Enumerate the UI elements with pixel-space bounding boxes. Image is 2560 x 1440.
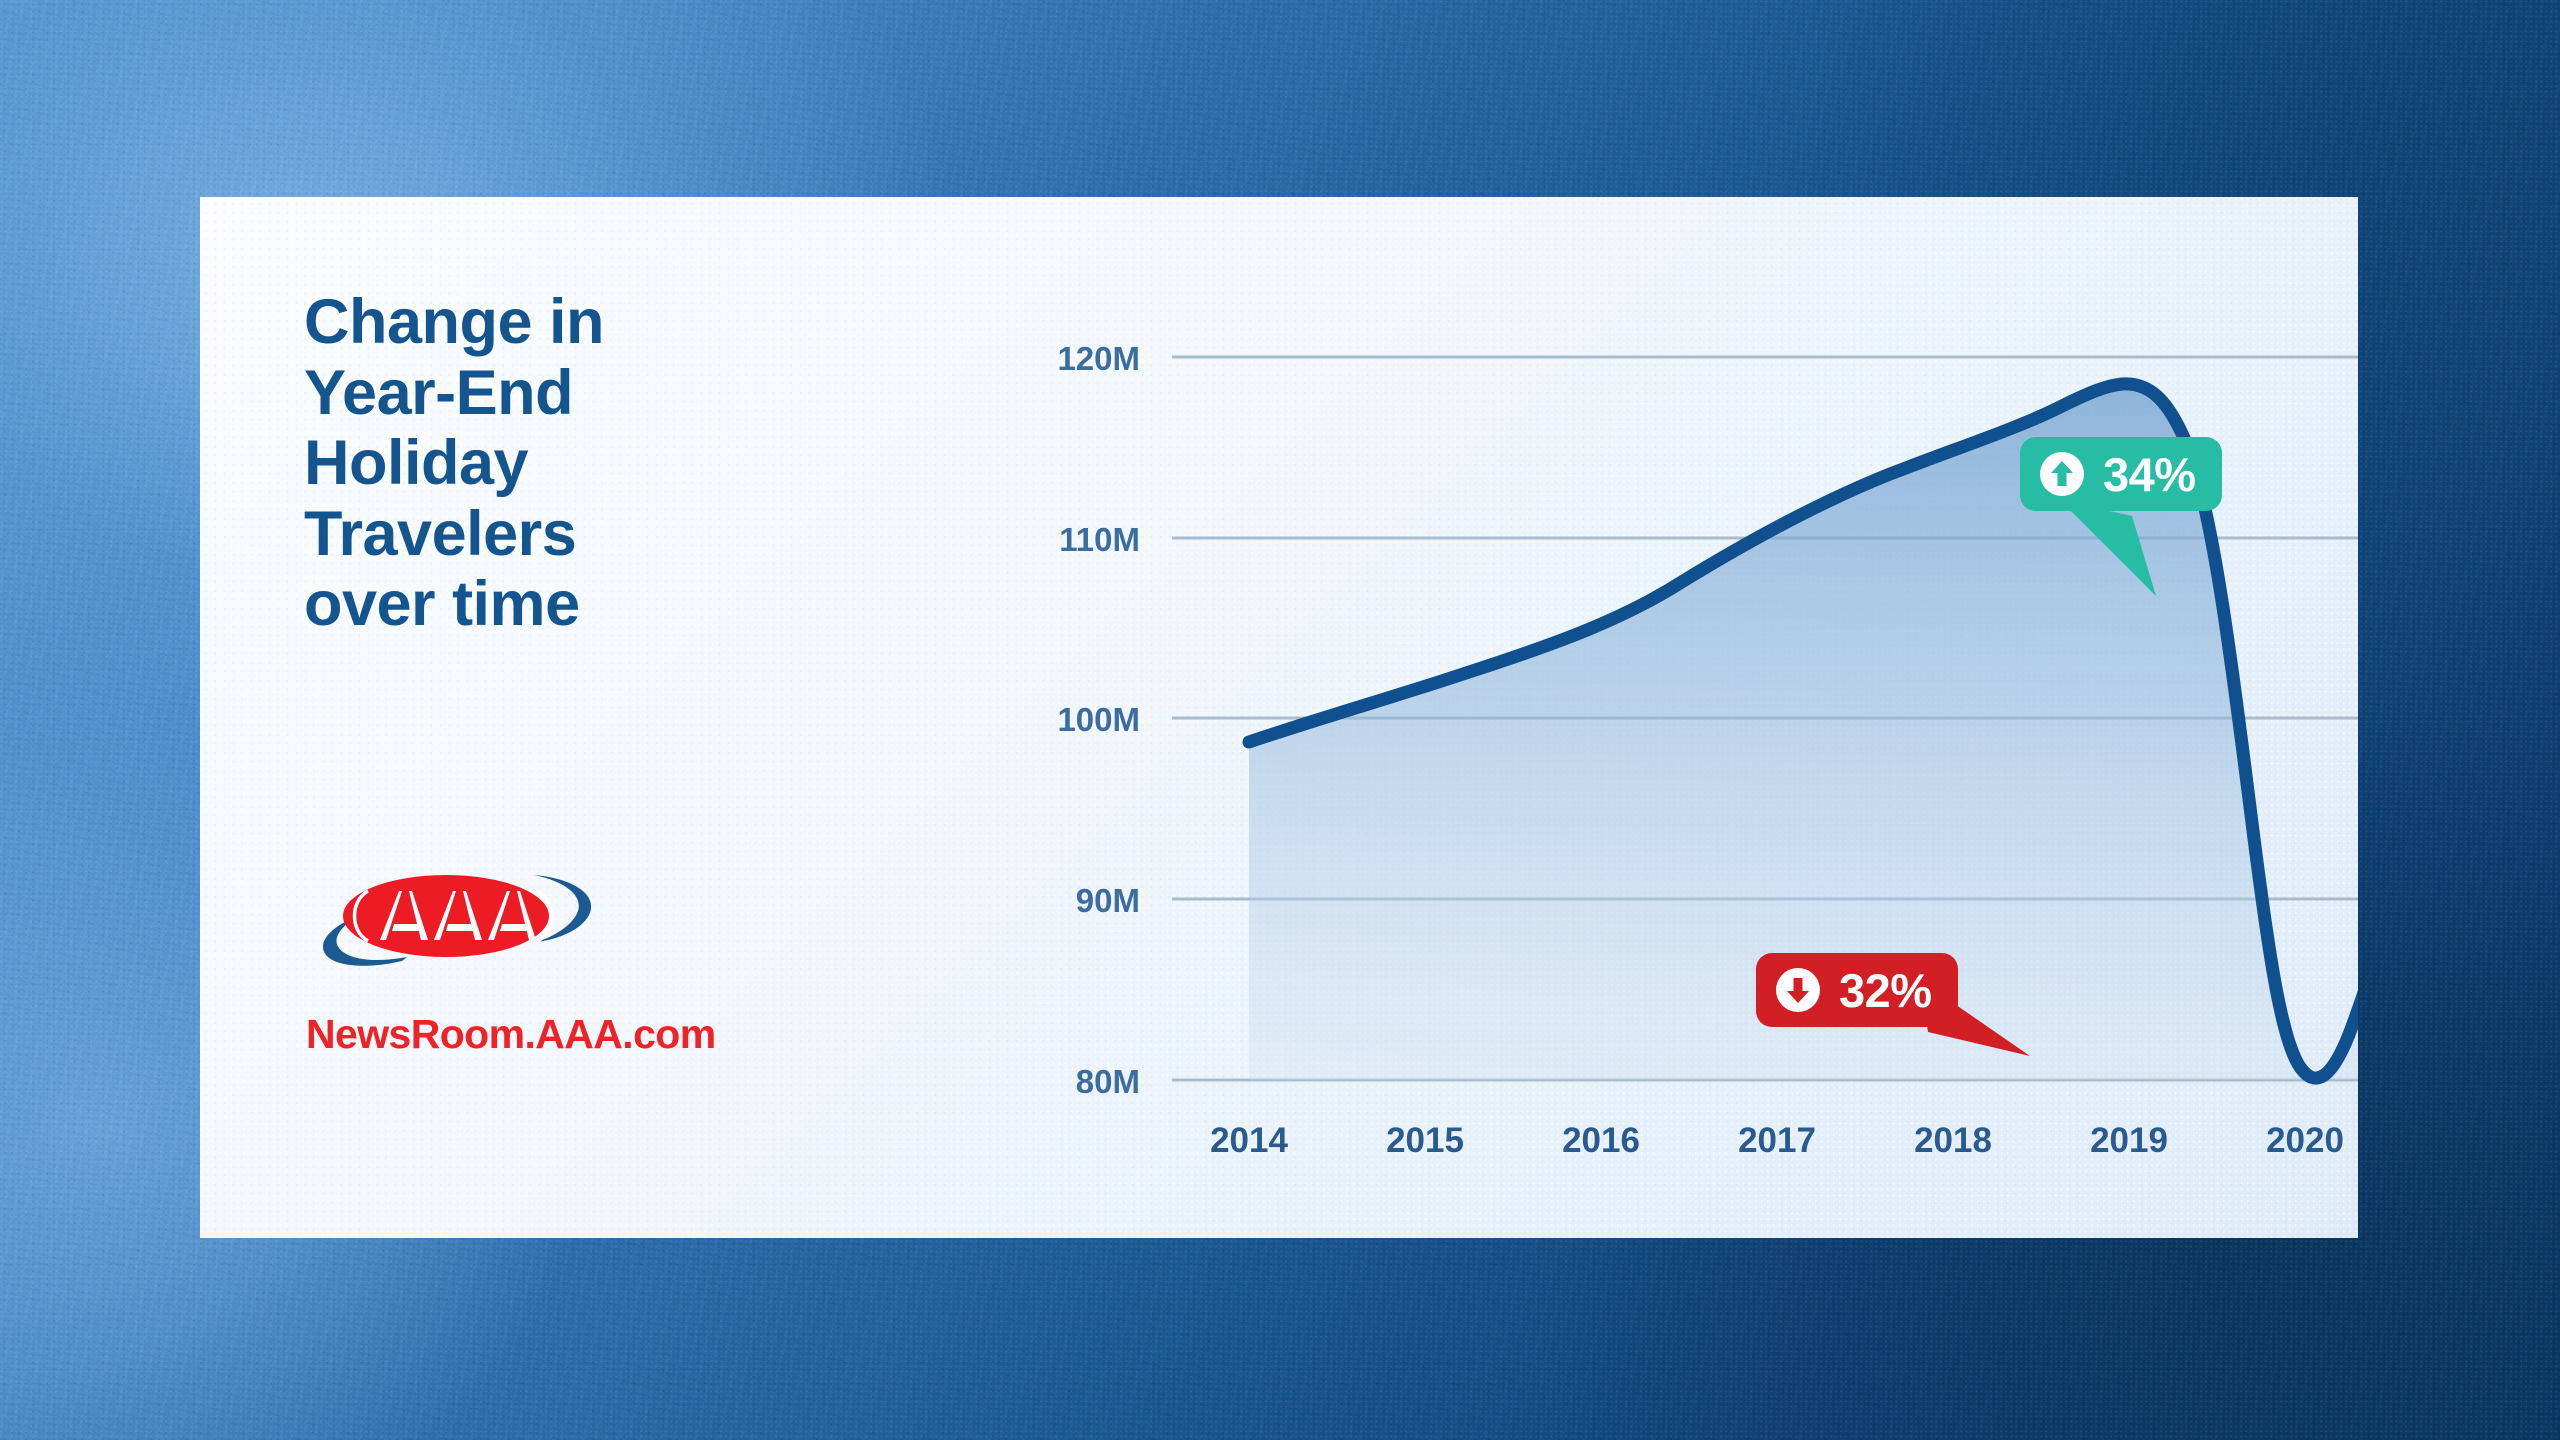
x-tick-label: 2020 [2266, 1121, 2344, 1160]
x-axis-labels: 2014 2015 2016 2017 2018 2019 2020 2021 [1210, 1121, 2358, 1160]
chart-area: 120M 110M 100M 90M 80M 2014 2015 2016 20… [760, 197, 2358, 1238]
infographic-canvas: Change in Year-End Holiday Travelers ove… [0, 0, 2560, 1440]
callout-tail-up [2060, 500, 2260, 630]
y-tick-label: 120M [1057, 340, 1140, 377]
x-tick-label: 2017 [1738, 1121, 1816, 1160]
y-tick-label: 100M [1057, 701, 1140, 738]
y-axis-labels: 120M 110M 100M 90M 80M [1057, 340, 1140, 1100]
callout-increase-label: 34% [2103, 451, 2196, 498]
callout-decrease-badge[interactable]: 32% [1756, 953, 1958, 1027]
arrow-down-circle-icon [1774, 966, 1822, 1014]
x-tick-label: 2018 [1914, 1121, 1992, 1160]
travelers-area-chart: 120M 110M 100M 90M 80M 2014 2015 2016 20… [760, 197, 2358, 1238]
y-tick-label: 80M [1076, 1063, 1140, 1100]
callout-decrease-label: 32% [1839, 967, 1932, 1014]
left-column: Change in Year-End Holiday Travelers ove… [304, 287, 724, 640]
y-tick-label: 90M [1076, 882, 1140, 919]
callout-increase-badge[interactable]: 34% [2020, 437, 2222, 511]
x-tick-label: 2015 [1386, 1121, 1464, 1160]
y-tick-label: 110M [1059, 521, 1140, 558]
x-tick-label: 2014 [1210, 1121, 1288, 1160]
brand-block: NewsRoom.AAA.com [306, 869, 626, 1058]
aaa-logo [306, 869, 606, 985]
page-title: Change in Year-End Holiday Travelers ove… [304, 287, 724, 640]
arrow-up-circle-icon [2038, 450, 2086, 498]
x-tick-label: 2016 [1562, 1121, 1640, 1160]
x-tick-label: 2019 [2090, 1121, 2168, 1160]
newsroom-url[interactable]: NewsRoom.AAA.com [306, 1011, 626, 1058]
